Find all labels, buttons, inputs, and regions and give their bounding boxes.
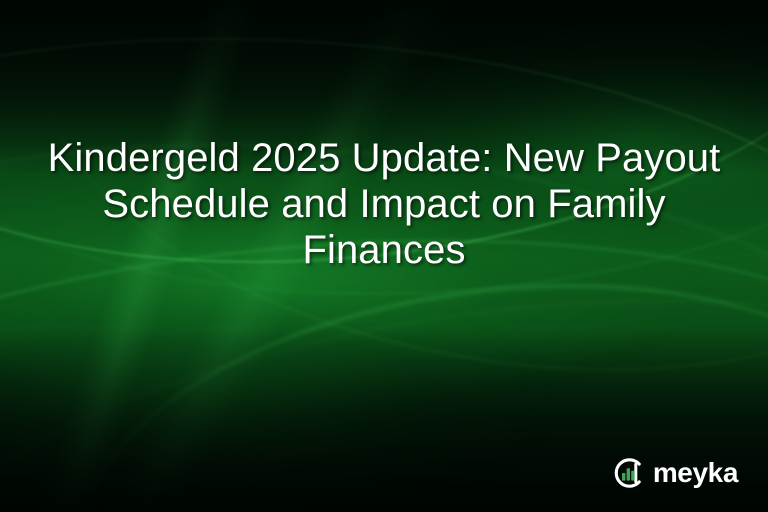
brand-wordmark: meyka (653, 459, 738, 487)
brand-logo[interactable]: meyka (612, 456, 738, 490)
banner-title: Kindergeld 2025 Update: New Payout Sched… (0, 135, 768, 273)
background-glow-lower (0, 282, 538, 512)
circle-bar-chart-icon (612, 456, 646, 490)
article-header-banner: Kindergeld 2025 Update: New Payout Sched… (0, 0, 768, 512)
